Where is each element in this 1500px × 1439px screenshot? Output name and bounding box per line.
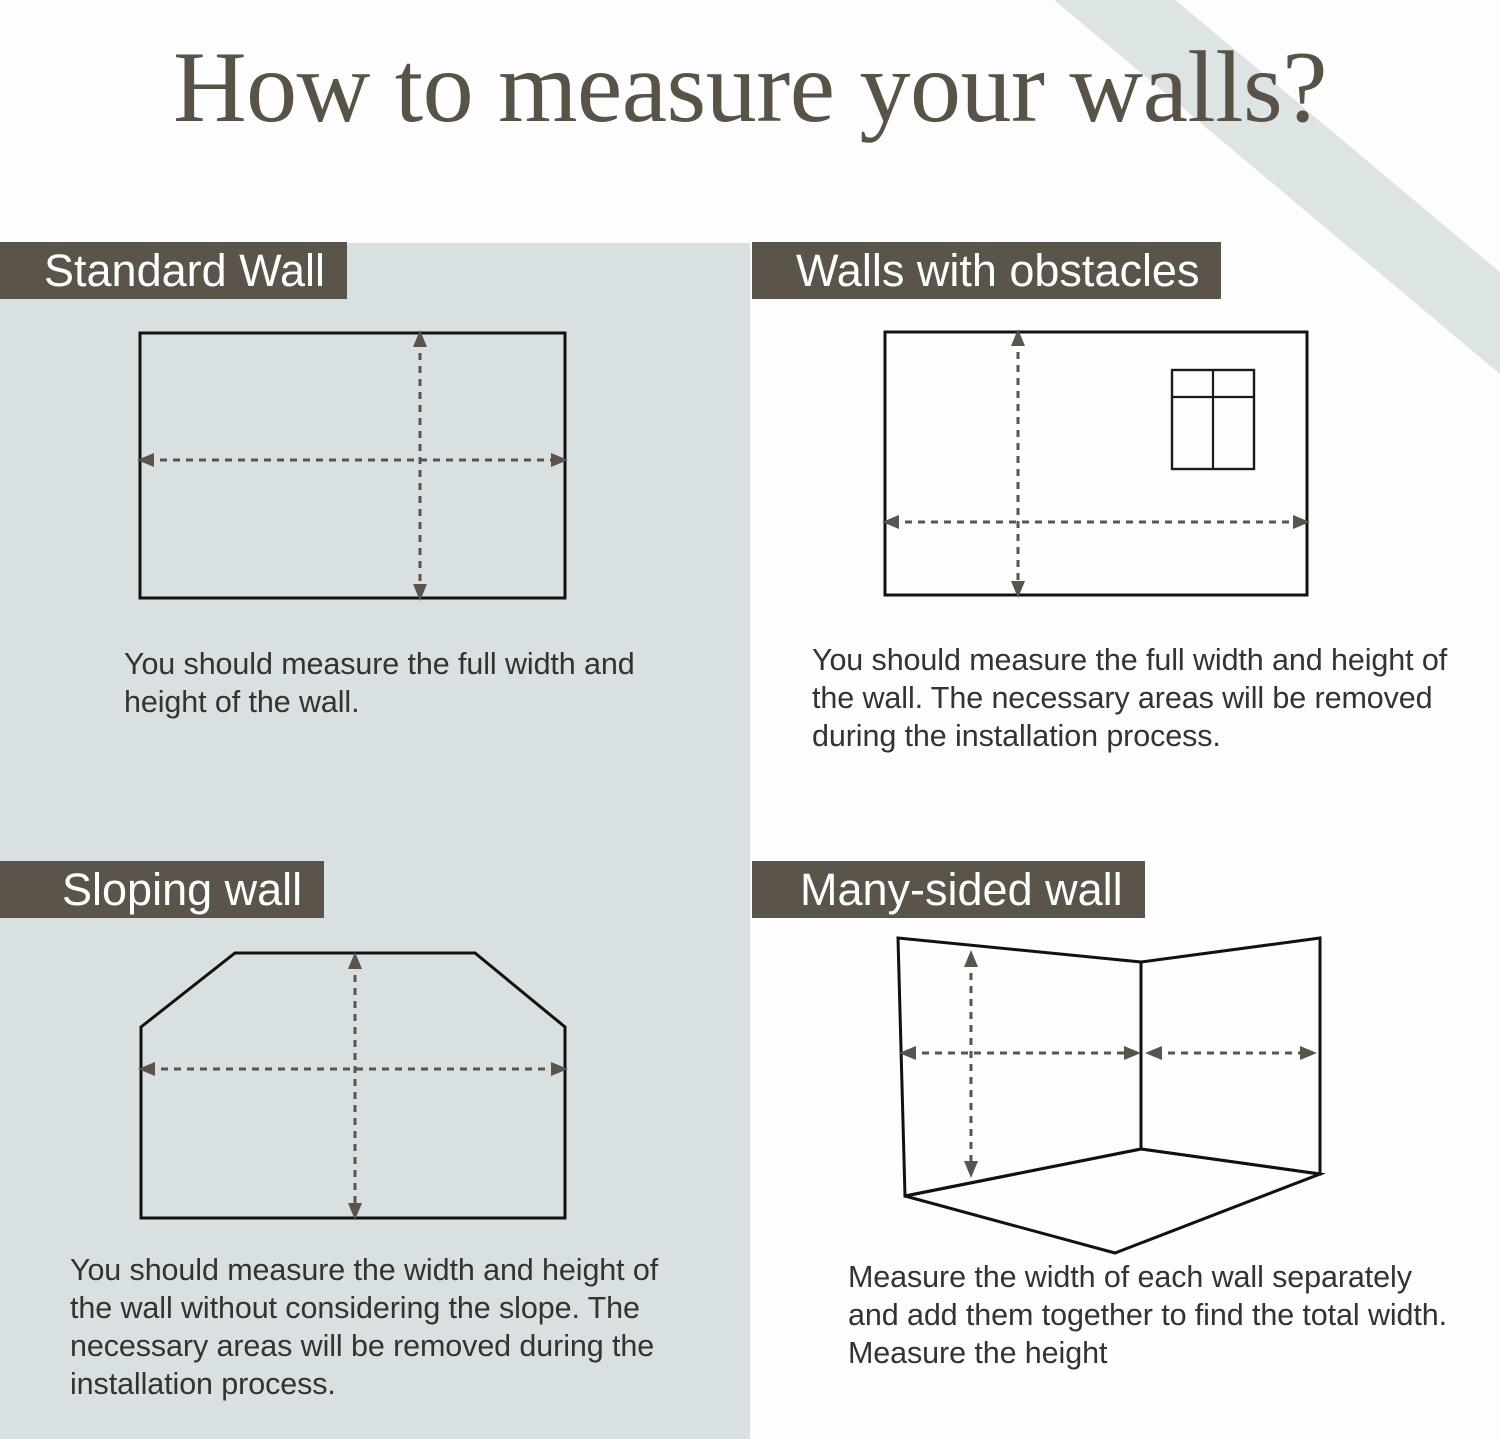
page-title: How to measure your walls? — [0, 34, 1500, 141]
infographic-page: How to measure your walls? Standard Wall… — [0, 0, 1500, 1439]
right-wall-face — [1141, 938, 1320, 1174]
left-wall-width-arrow-right-icon — [1124, 1046, 1141, 1060]
wall-rectangle — [885, 332, 1307, 595]
caption-sloping-wall: You should measure the width and height … — [70, 1251, 690, 1403]
caption-many-sided-wall: Measure the width of each wall separatel… — [848, 1258, 1468, 1372]
section-label-walls-with-obstacles: Walls with obstacles — [752, 242, 1221, 299]
diagram-walls-with-obstacles — [860, 315, 1340, 615]
section-label-standard-wall: Standard Wall — [0, 242, 347, 299]
caption-walls-with-obstacles: You should measure the full width and he… — [812, 641, 1472, 755]
section-label-sloping-wall: Sloping wall — [0, 861, 324, 918]
diagram-standard-wall — [120, 315, 600, 615]
diagram-many-sided-wall — [870, 920, 1350, 1265]
height-arrow-down-icon — [964, 1161, 978, 1178]
wall-rectangle — [140, 333, 565, 598]
height-arrow-up-icon — [964, 950, 978, 967]
section-label-many-sided-wall: Many-sided wall — [752, 861, 1145, 918]
right-wall-width-arrow-right-icon — [1300, 1046, 1317, 1060]
diagram-sloping-wall — [120, 930, 600, 1240]
right-wall-width-arrow-left-icon — [1145, 1046, 1162, 1060]
sloped-wall-outline — [141, 953, 565, 1218]
height-arrow-up-icon — [348, 952, 362, 969]
caption-standard-wall: You should measure the full width and he… — [124, 645, 644, 721]
